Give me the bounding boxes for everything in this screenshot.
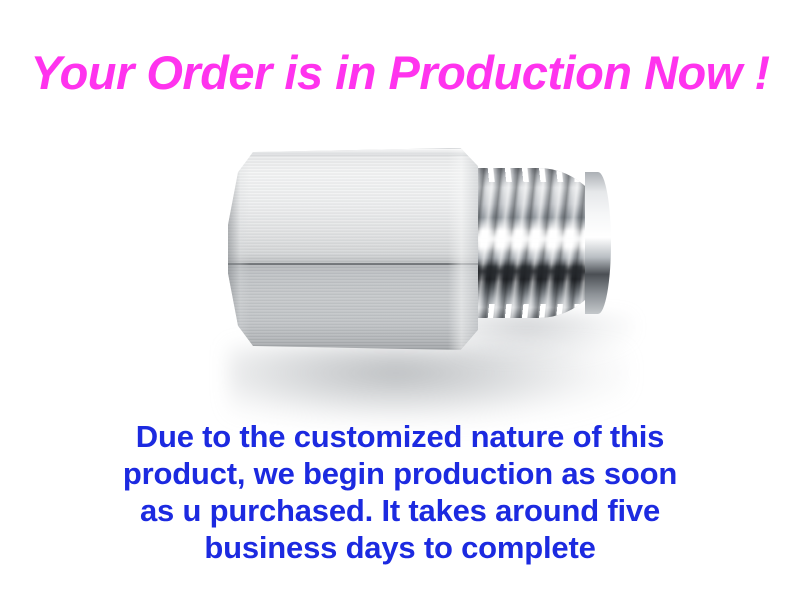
- product-image: [0, 120, 800, 420]
- body-copy-line: as u purchased. It takes around five: [0, 492, 800, 529]
- body-copy-line: business days to complete: [0, 529, 800, 566]
- shank-end-cap: [585, 172, 611, 314]
- body-copy-line: product, we begin production as soon: [0, 455, 800, 492]
- body-copy: Due to the customized nature of this pro…: [0, 418, 800, 566]
- male-threaded-shank: [455, 168, 610, 318]
- page-title: Your Order is in Production Now !: [0, 48, 800, 97]
- hex-facet-edge: [228, 263, 478, 265]
- hex-right-face: [448, 148, 478, 350]
- body-copy-line: Due to the customized nature of this: [0, 418, 800, 455]
- hex-left-chamfer: [228, 148, 250, 350]
- hex-nut-body: [228, 148, 478, 350]
- machining-striations: [228, 148, 478, 350]
- hex-top-edge: [234, 149, 474, 156]
- promo-banner: Your Order is in Production Now !: [0, 0, 800, 600]
- thread-shadow: [455, 312, 635, 360]
